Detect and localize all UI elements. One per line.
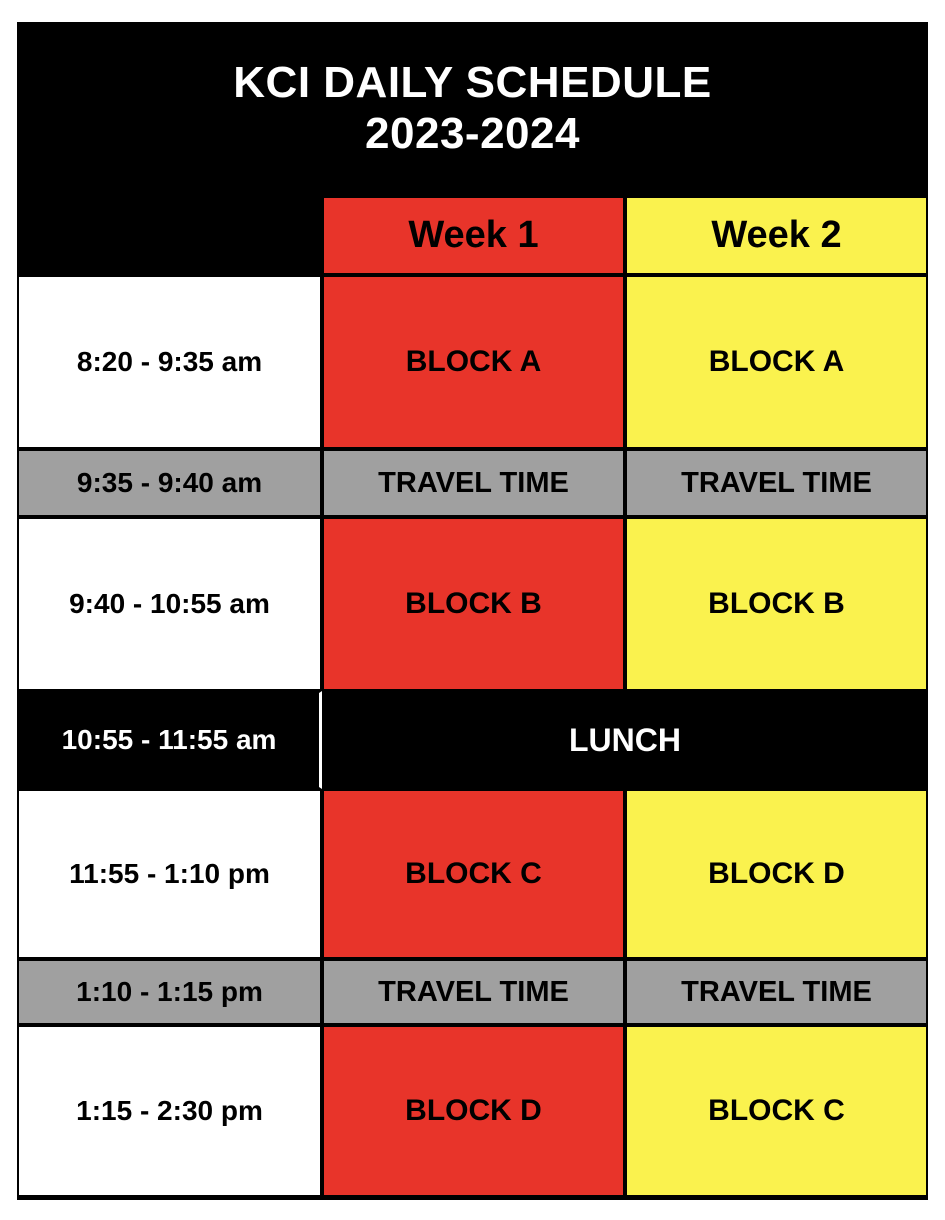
schedule-cell-lunch: LUNCH xyxy=(322,691,928,789)
page-title-line-1: KCI DAILY SCHEDULE xyxy=(233,58,711,109)
time-cell: 8:20 - 9:35 am xyxy=(17,275,322,449)
schedule-title-block: KCI DAILY SCHEDULE 2023-2024 xyxy=(17,22,928,196)
schedule-cell-week1: BLOCK A xyxy=(322,275,625,449)
time-cell: 9:35 - 9:40 am xyxy=(17,449,322,517)
schedule-cell-week1: BLOCK D xyxy=(322,1025,625,1197)
table-corner-blank xyxy=(17,196,322,275)
schedule-cell-week1: TRAVEL TIME xyxy=(322,449,625,517)
schedule-cell-week2: TRAVEL TIME xyxy=(625,449,928,517)
time-cell: 1:15 - 2:30 pm xyxy=(17,1025,322,1197)
schedule-cell-week2: BLOCK C xyxy=(625,1025,928,1197)
column-header-week-2: Week 2 xyxy=(625,196,928,275)
schedule-cell-week2: BLOCK A xyxy=(625,275,928,449)
schedule-cell-week2: TRAVEL TIME xyxy=(625,959,928,1025)
page-title-line-2: 2023-2024 xyxy=(365,109,580,160)
time-cell: 9:40 - 10:55 am xyxy=(17,517,322,691)
schedule-cell-week1: BLOCK C xyxy=(322,789,625,959)
schedule-cell-week2: BLOCK B xyxy=(625,517,928,691)
column-header-week-1: Week 1 xyxy=(322,196,625,275)
schedule-grid: KCI DAILY SCHEDULE 2023-2024 Week 1 Week… xyxy=(17,22,928,1200)
schedule-cell-week1: BLOCK B xyxy=(322,517,625,691)
time-cell: 1:10 - 1:15 pm xyxy=(17,959,322,1025)
schedule-cell-week2: BLOCK D xyxy=(625,789,928,959)
time-cell-lunch: 10:55 - 11:55 am xyxy=(17,691,322,789)
schedule-sheet: KCI DAILY SCHEDULE 2023-2024 Week 1 Week… xyxy=(17,22,928,1200)
time-cell: 11:55 - 1:10 pm xyxy=(17,789,322,959)
schedule-cell-week1: TRAVEL TIME xyxy=(322,959,625,1025)
